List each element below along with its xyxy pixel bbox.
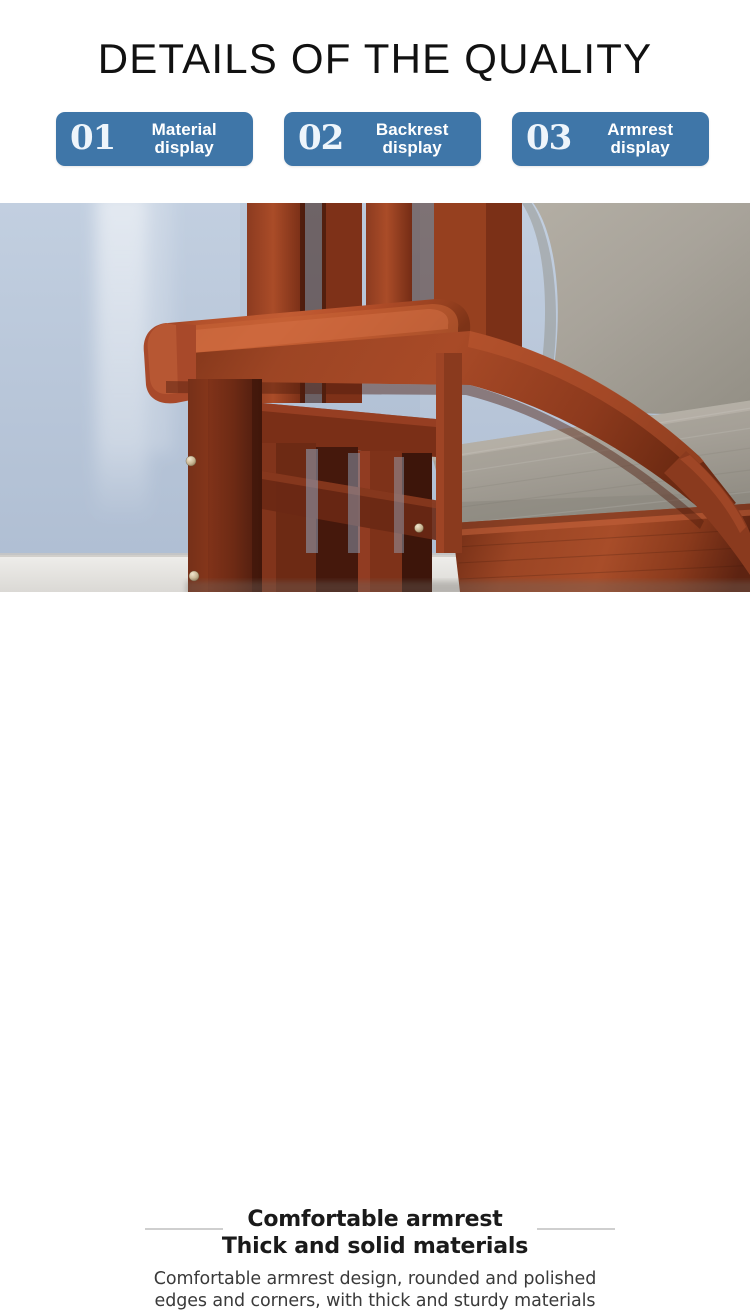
badge-label-line1: Backrest	[376, 120, 449, 139]
product-detail-page: DETAILS OF THE QUALITY 01 Material displ…	[0, 0, 750, 750]
badge-armrest-display[interactable]: 03 Armrest display	[512, 112, 709, 166]
caption-body: Comfortable armrest design, rounded and …	[0, 1268, 750, 1313]
badge-label: Backrest display	[353, 121, 471, 158]
badge-number: 01	[70, 121, 125, 155]
feature-badge-row: 01 Material display 02 Backrest display …	[56, 112, 709, 166]
product-photo	[0, 203, 750, 592]
badge-label-line2: display	[125, 139, 243, 157]
badge-label-line2: display	[353, 139, 471, 157]
caption-heading-line2: Thick and solid materials	[0, 1234, 750, 1261]
caption-heading: Comfortable armrest Thick and solid mate…	[0, 1207, 750, 1261]
caption-heading-line1: Comfortable armrest	[247, 1207, 502, 1232]
badge-material-display[interactable]: 01 Material display	[56, 112, 253, 166]
caption-body-line1: Comfortable armrest design, rounded and …	[154, 1269, 596, 1289]
badge-label: Material display	[125, 121, 243, 158]
badge-label-line2: display	[581, 139, 699, 157]
badge-backrest-display[interactable]: 02 Backrest display	[284, 112, 481, 166]
caption-body-line2: edges and corners, with thick and sturdy…	[0, 1290, 750, 1312]
page-title: DETAILS OF THE QUALITY	[0, 38, 750, 80]
badge-label-line1: Armrest	[607, 120, 673, 139]
footer-caption: Comfortable armrest Thick and solid mate…	[0, 592, 750, 750]
badge-number: 02	[298, 121, 353, 155]
badge-label-line1: Material	[152, 120, 217, 139]
product-photo-illustration	[0, 203, 750, 592]
badge-number: 03	[526, 121, 581, 155]
badge-label: Armrest display	[581, 121, 699, 158]
